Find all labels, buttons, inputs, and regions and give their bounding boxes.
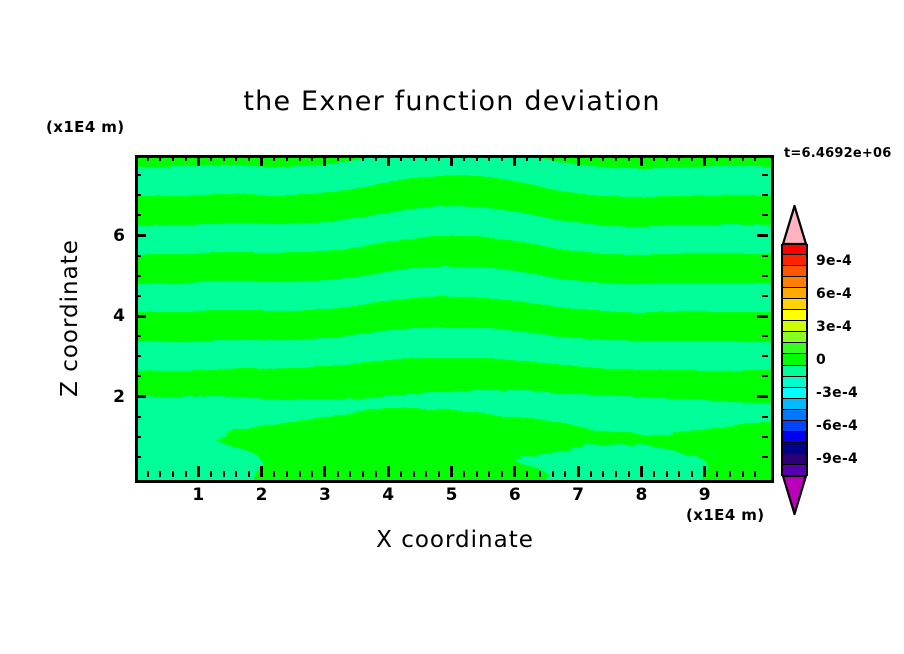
colorbar-band — [781, 354, 808, 365]
page-title: the Exner function deviation — [0, 86, 904, 117]
x-axis-title: X coordinate — [255, 527, 655, 553]
x-tick-label: 3 — [319, 485, 331, 505]
y-tick-label: 4 — [107, 306, 125, 326]
colorbar-tick-label: 9e-4 — [816, 253, 852, 269]
colorbar-band — [781, 299, 808, 310]
colorbar-band — [781, 332, 808, 343]
colorbar-band — [781, 377, 808, 388]
y-axis-unit-label: (x1E4 m) — [46, 118, 125, 136]
contour-field — [138, 158, 771, 480]
colorbar-band — [781, 432, 808, 443]
colorbar-tick-label: -9e-4 — [816, 451, 858, 467]
colorbar-band — [781, 288, 808, 299]
x-tick-label: 4 — [382, 485, 394, 505]
colorbar-band — [781, 321, 808, 332]
colorbar — [781, 244, 808, 476]
colorbar-band — [781, 399, 808, 410]
colorbar-band — [781, 310, 808, 321]
contour-plot-area — [135, 155, 774, 483]
x-tick-label: 5 — [446, 485, 458, 505]
colorbar-band — [781, 388, 808, 399]
colorbar-band — [781, 454, 808, 465]
colorbar-band — [781, 443, 808, 454]
x-tick-label: 7 — [572, 485, 584, 505]
colorbar-band — [781, 266, 808, 277]
colorbar-band — [781, 421, 808, 432]
colorbar-tick-label: 6e-4 — [816, 286, 852, 302]
colorbar-tick-label: 0 — [816, 352, 826, 368]
x-tick-label: 1 — [192, 485, 204, 505]
colorbar-band — [781, 244, 808, 255]
colorbar-over-arrow — [781, 205, 808, 245]
y-tick-label: 6 — [107, 226, 125, 246]
colorbar-band — [781, 366, 808, 377]
colorbar-band — [781, 410, 808, 421]
colorbar-tick-label: -6e-4 — [816, 418, 858, 434]
x-axis-unit-label: (x1E4 m) — [686, 506, 765, 524]
y-axis-title: Z coordinate — [57, 198, 83, 438]
x-tick-label: 2 — [256, 485, 268, 505]
colorbar-tick-label: 3e-4 — [816, 319, 852, 335]
colorbar-under-arrow — [781, 475, 808, 515]
x-tick-label: 8 — [635, 485, 647, 505]
colorbar-tick-label: -3e-4 — [816, 385, 858, 401]
colorbar-band — [781, 343, 808, 354]
timestamp-annotation: t=6.4692e+06 — [784, 146, 891, 161]
x-tick-label: 9 — [699, 485, 711, 505]
colorbar-band — [781, 255, 808, 266]
y-tick-label: 2 — [107, 387, 125, 407]
x-tick-label: 6 — [509, 485, 521, 505]
colorbar-band — [781, 277, 808, 288]
